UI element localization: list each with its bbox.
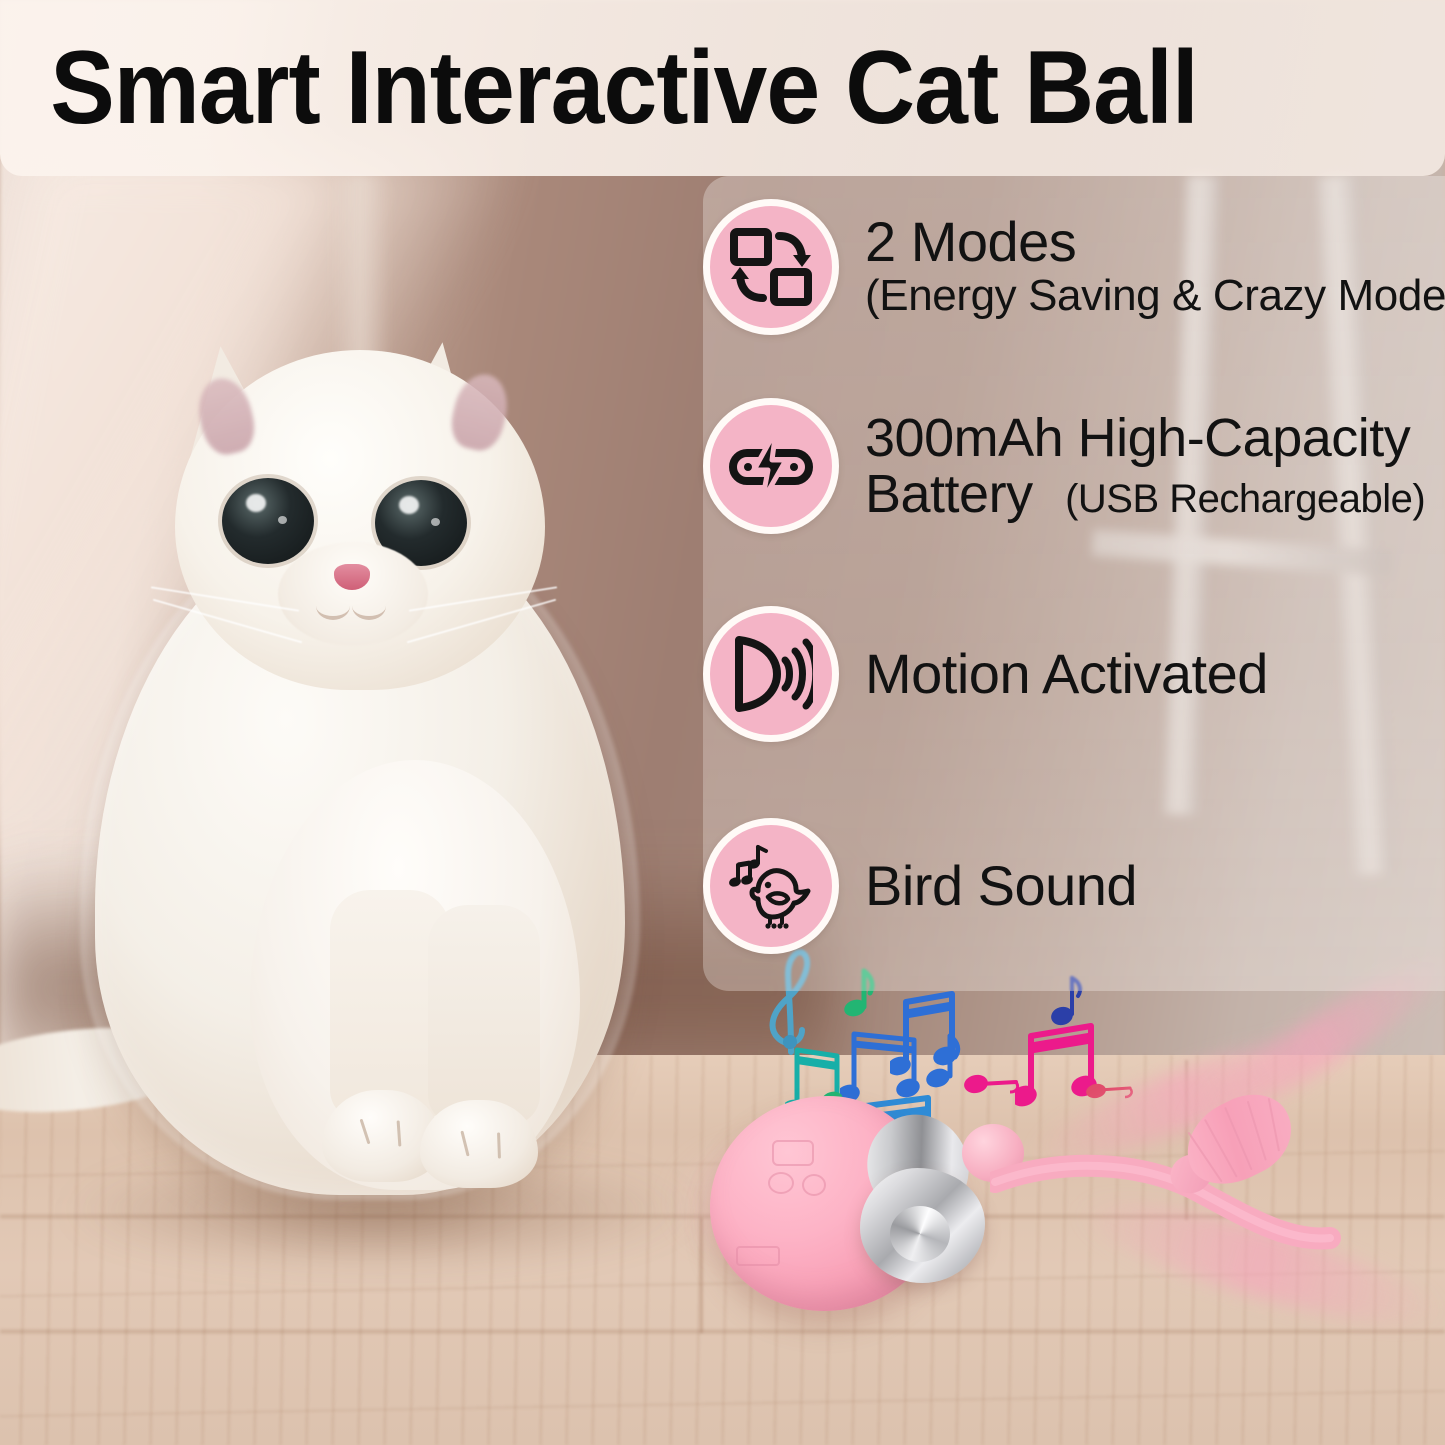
feature-item-two-modes: 2 Modes (Energy Saving & Crazy Mode) <box>703 199 1445 335</box>
feature-title: Bird Sound <box>865 857 1137 915</box>
cat-eye-glint <box>431 518 440 526</box>
cat-paw-right <box>420 1100 538 1188</box>
feature-title: Motion Activated <box>865 645 1268 703</box>
cat-eye-left <box>222 478 314 564</box>
cat-photo-subject <box>0 330 760 1230</box>
page-title: Smart Interactive Cat Ball <box>0 36 1198 140</box>
feature-text-block: 2 Modes (Energy Saving & Crazy Mode) <box>865 213 1445 321</box>
feature-item-battery: 300mAh High-Capacity Battery (USB Rechar… <box>703 398 1425 534</box>
feature-text-block: Motion Activated <box>865 645 1268 703</box>
feature-title: 2 Modes <box>865 213 1445 271</box>
ball-embossed-mark <box>772 1140 814 1166</box>
title-banner: Smart Interactive Cat Ball <box>0 0 1445 176</box>
motion-sensor-icon <box>703 606 839 742</box>
product-feature-image: Smart Interactive Cat Ball 2 Modes (Ener… <box>0 0 1445 1445</box>
ball-embossed-mark <box>736 1246 780 1266</box>
feature-item-bird-sound: Bird Sound <box>703 818 1137 954</box>
feature-title-cont: Battery <box>865 464 1033 524</box>
feature-list-panel: 2 Modes (Energy Saving & Crazy Mode) 300… <box>703 176 1445 991</box>
feature-title-second-line: Battery (USB Rechargeable) <box>865 466 1425 522</box>
cat-eye-glint <box>246 494 266 512</box>
feature-item-motion: Motion Activated <box>703 606 1268 742</box>
cat-mouth <box>316 592 350 620</box>
cat-foreleg-right <box>428 905 540 1125</box>
cat-mouth <box>352 592 386 620</box>
ball-chrome-spiral <box>890 1206 950 1262</box>
ball-embossed-mark <box>768 1172 794 1194</box>
battery-charging-icon <box>703 398 839 534</box>
cat-ball-toy <box>690 1080 1445 1330</box>
floor-seam <box>0 1330 1445 1333</box>
cat-eye-glint <box>399 496 419 514</box>
bird-singing-icon <box>703 818 839 954</box>
feature-title: 300mAh High-Capacity <box>865 410 1425 466</box>
ball-embossed-mark <box>802 1174 826 1196</box>
two-modes-swap-icon <box>703 199 839 335</box>
feature-subtitle: (Energy Saving & Crazy Mode) <box>865 271 1445 320</box>
cat-eye-glint <box>278 516 287 524</box>
feature-text-block: 300mAh High-Capacity Battery (USB Rechar… <box>865 410 1425 522</box>
feature-text-block: Bird Sound <box>865 857 1137 915</box>
feature-subtitle: (USB Rechargeable) <box>1065 477 1425 521</box>
